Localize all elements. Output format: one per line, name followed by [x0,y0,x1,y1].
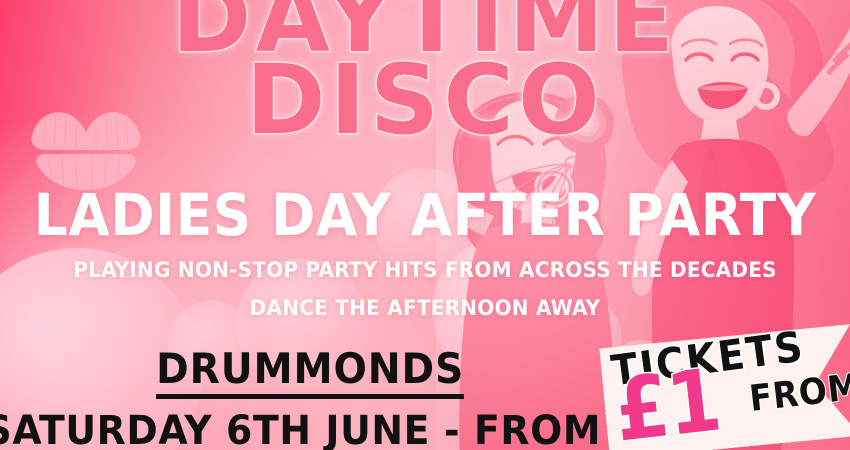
venue-name: DRUMMONDS [156,348,464,399]
subtitle-primary: PLAYING NON-STOP PARTY HITS FROM ACROSS … [0,258,850,282]
subtitle-secondary: DANCE THE AFTERNOON AWAY [0,296,850,320]
event-datetime: SATURDAY 6TH JUNE - FROM 4PM [0,411,636,450]
poster-title: DAYTIME DISCO [0,0,850,145]
title-line-disco: DISCO [0,56,850,144]
venue-and-date-block: DRUMMONDS SATURDAY 6TH JUNE - FROM 4PM [0,348,620,450]
event-poster: DAYTIME DISCO LADIES DAY AFTER PARTY PLA… [0,0,850,450]
ticket-price-badge[interactable]: TICKETS £1 FROM [599,324,850,450]
page-headline: LADIES DAY AFTER PARTY [0,186,850,244]
ticket-price: £1 [611,362,723,450]
